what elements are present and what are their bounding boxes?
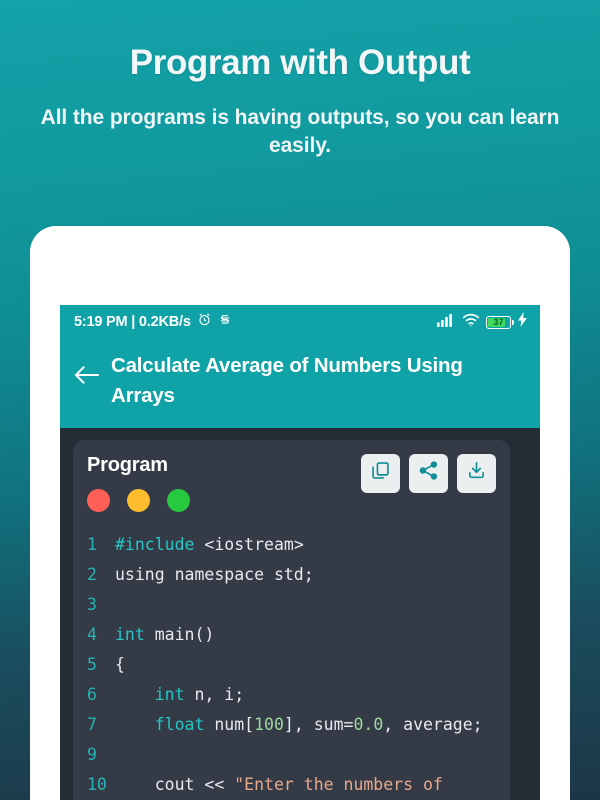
code-token: n, i;: [185, 685, 245, 704]
code-token: int: [115, 625, 145, 644]
download-button[interactable]: [457, 454, 496, 493]
phone-mockup: 5:19 PM | 0.2KB/s: [30, 226, 570, 800]
code-token: num[: [204, 715, 254, 734]
code-token: <iostream>: [194, 535, 303, 554]
code-line-number: 6: [87, 680, 115, 710]
code-line: 4int main(): [87, 620, 496, 650]
code-line-content: cout << "Enter the numbers of data: ";: [115, 770, 496, 800]
code-line-content: [115, 740, 496, 770]
code-line-number: 9: [87, 740, 115, 770]
promo-title: Program with Output: [28, 44, 572, 82]
download-icon: [466, 460, 487, 486]
promo-screenshot: Program with Output All the programs is …: [0, 0, 600, 800]
share-icon: [418, 460, 439, 486]
copy-button[interactable]: [361, 454, 400, 493]
status-bar-left: 5:19 PM | 0.2KB/s: [74, 312, 232, 332]
code-line: 7 float num[100], sum=0.0, average;: [87, 710, 496, 740]
code-token: 0.0: [353, 715, 383, 734]
code-line: 5{: [87, 650, 496, 680]
dot-green: [167, 489, 190, 512]
code-line-number: 2: [87, 560, 115, 590]
do-not-disturb-icon: [218, 312, 232, 332]
code-line-number: 10: [87, 770, 115, 800]
program-card-header: Program: [87, 454, 496, 512]
status-clock: 5:19 PM | 0.2KB/s: [74, 314, 191, 330]
program-label-group: Program: [87, 454, 190, 512]
code-line-content: [115, 590, 496, 620]
program-card: Program: [73, 440, 510, 800]
battery-icon: 37: [486, 316, 511, 329]
code-line-content: #include <iostream>: [115, 530, 496, 560]
code-token: [115, 715, 155, 734]
code-line-content: float num[100], sum=0.0, average;: [115, 710, 496, 740]
code-line-number: 1: [87, 530, 115, 560]
wifi-icon: [462, 313, 480, 332]
code-token: {: [115, 655, 125, 674]
promo-text-block: Program with Output All the programs is …: [0, 44, 600, 160]
charging-bolt-icon: [517, 312, 528, 332]
app-bar: Calculate Average of Numbers Using Array…: [60, 339, 540, 428]
code-token: #include: [115, 535, 194, 554]
code-token: [115, 685, 155, 704]
code-line-number: 3: [87, 590, 115, 620]
back-arrow-icon[interactable]: [74, 365, 99, 390]
code-line: 1#include <iostream>: [87, 530, 496, 560]
code-token: 100: [254, 715, 284, 734]
program-actions: [361, 454, 496, 493]
code-token: , average;: [383, 715, 482, 734]
dot-yellow: [127, 489, 150, 512]
code-token: int: [155, 685, 185, 704]
code-line: 6 int n, i;: [87, 680, 496, 710]
copy-icon: [370, 460, 391, 486]
program-label: Program: [87, 454, 190, 477]
code-line-number: 4: [87, 620, 115, 650]
page-title: Calculate Average of Numbers Using Array…: [111, 351, 524, 412]
code-line-content: int n, i;: [115, 680, 496, 710]
status-bar-right: 37: [437, 312, 528, 332]
code-line: 9: [87, 740, 496, 770]
battery-level: 37: [493, 318, 503, 327]
code-line: 3: [87, 590, 496, 620]
code-token: ], sum=: [284, 715, 354, 734]
code-line-content: using namespace std;: [115, 560, 496, 590]
code-line-number: 7: [87, 710, 115, 740]
code-token: using namespace std;: [115, 565, 314, 584]
code-line-number: 5: [87, 650, 115, 680]
code-line-content: {: [115, 650, 496, 680]
alarm-clock-icon: [197, 312, 212, 332]
status-bar: 5:19 PM | 0.2KB/s: [60, 305, 540, 339]
code-line-content: int main(): [115, 620, 496, 650]
dot-red: [87, 489, 110, 512]
code-block[interactable]: 1#include <iostream>2using namespace std…: [87, 530, 496, 800]
code-token: cout <<: [115, 775, 234, 794]
phone-screen: 5:19 PM | 0.2KB/s: [60, 305, 540, 800]
code-token: main(): [145, 625, 215, 644]
cellular-signal-icon: [437, 313, 456, 332]
code-token: float: [155, 715, 205, 734]
code-line: 2using namespace std;: [87, 560, 496, 590]
promo-subtitle: All the programs is having outputs, so y…: [28, 104, 572, 160]
code-line: 10 cout << "Enter the numbers of data: "…: [87, 770, 496, 800]
window-dots: [87, 489, 190, 512]
share-button[interactable]: [409, 454, 448, 493]
